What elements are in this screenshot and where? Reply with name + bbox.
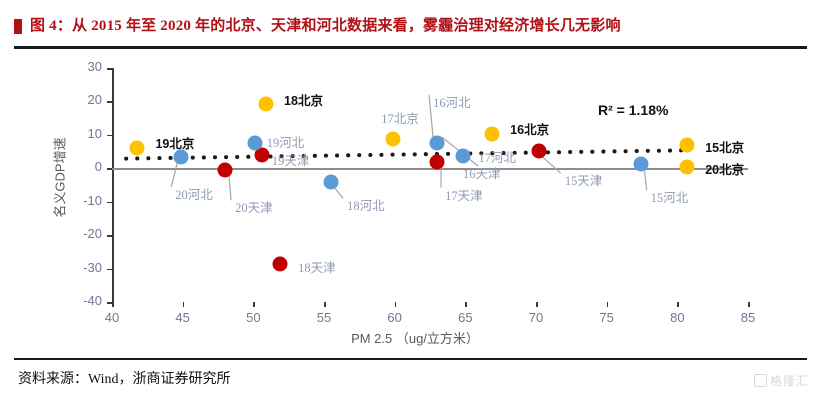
leader-15天津	[543, 157, 561, 173]
x-tick-mark	[536, 302, 538, 307]
header-divider	[14, 46, 807, 49]
data-point-16河北	[430, 136, 445, 151]
x-tick-label: 45	[163, 310, 203, 325]
label-16tianjin: 16天津	[463, 163, 501, 182]
x-tick-label: 70	[516, 310, 556, 325]
x-tick-mark	[465, 302, 467, 307]
data-point-17北京	[386, 131, 401, 146]
x-tick-mark	[607, 302, 609, 307]
data-point-18天津	[273, 256, 288, 271]
x-tick-label: 75	[587, 310, 627, 325]
point-label-19北京: 19北京	[155, 133, 194, 152]
leader-20天津	[229, 176, 231, 200]
point-label-18北京: 18北京	[284, 90, 323, 109]
x-tick-label: 50	[233, 310, 273, 325]
x-tick-mark	[112, 302, 114, 307]
point-label-15天津: 15天津	[565, 170, 603, 189]
x-tick-label: 85	[728, 310, 768, 325]
leader-18河北	[335, 188, 343, 198]
data-point-15天津	[531, 144, 546, 159]
watermark-text: 格隆汇	[770, 372, 809, 389]
point-label-18天津: 18天津	[298, 257, 336, 276]
data-point-20河北	[174, 149, 189, 164]
y-axis-line	[112, 68, 114, 302]
data-point-20天津	[218, 163, 233, 178]
x-axis-title: PM 2.5 （ug/立方米）	[250, 328, 580, 347]
title-accent-bar	[14, 19, 22, 34]
data-point-15北京	[680, 138, 695, 153]
data-point-17河北	[455, 148, 470, 163]
y-tick-mark	[107, 68, 112, 70]
zero-baseline	[112, 168, 748, 170]
x-tick-mark	[183, 302, 185, 307]
source-note: 资料来源：Wind，浙商证券研究所	[18, 368, 231, 388]
y-tick-mark	[107, 101, 112, 103]
x-tick-label: 80	[657, 310, 697, 325]
y-tick-label: 20	[62, 92, 102, 107]
point-label-15北京: 15北京	[705, 137, 744, 156]
x-tick-label: 40	[92, 310, 132, 325]
point-label-17北京: 17北京	[381, 108, 419, 127]
data-point-18河北	[324, 175, 339, 190]
point-label-19河北: 19河北	[267, 132, 305, 151]
y-tick-mark	[107, 202, 112, 204]
y-tick-label: -20	[62, 226, 102, 241]
figure-container: 图 4：从 2015 年至 2020 年的北京、天津和河北数据来看，雾霾治理对经…	[0, 0, 821, 401]
chart-plot-area: 名义GDP增速 PM 2.5 （ug/立方米） R² = 1.18% 30201…	[0, 50, 821, 355]
point-label-20北京: 20北京	[705, 159, 744, 178]
y-tick-mark	[107, 235, 112, 237]
point-label-16河北: 16河北	[433, 92, 471, 111]
x-tick-label: 60	[375, 310, 415, 325]
watermark: 格隆汇	[754, 372, 809, 389]
y-tick-label: -10	[62, 193, 102, 208]
y-tick-mark	[107, 269, 112, 271]
point-label-20河北: 20河北	[175, 184, 213, 203]
point-label-17天津: 17天津	[445, 185, 483, 204]
data-point-18北京	[259, 97, 274, 112]
data-point-15河北	[633, 157, 648, 172]
figure-title-bar: 图 4：从 2015 年至 2020 年的北京、天津和河北数据来看，雾霾治理对经…	[14, 14, 807, 48]
point-label-16北京: 16北京	[510, 119, 549, 138]
x-tick-mark	[677, 302, 679, 307]
x-tick-mark	[324, 302, 326, 307]
y-tick-mark	[107, 135, 112, 137]
data-point-19北京	[130, 141, 145, 156]
x-tick-mark	[253, 302, 255, 307]
data-point-19河北	[247, 135, 262, 150]
y-tick-label: -40	[62, 293, 102, 308]
data-point-16北京	[485, 127, 500, 142]
point-label-18河北: 18河北	[347, 195, 385, 214]
data-point-17天津	[430, 154, 445, 169]
leader-15河北	[645, 170, 647, 190]
x-tick-mark	[748, 302, 750, 307]
data-point-20北京	[680, 160, 695, 175]
y-tick-label: 0	[62, 159, 102, 174]
y-tick-mark	[107, 168, 112, 170]
point-label-15河北: 15河北	[651, 187, 689, 206]
footer-divider	[14, 358, 807, 360]
y-tick-label: 30	[62, 59, 102, 74]
y-tick-label: 10	[62, 126, 102, 141]
r-squared-annotation: R² = 1.18%	[598, 102, 668, 118]
watermark-logo-icon	[754, 374, 767, 387]
x-tick-label: 55	[304, 310, 344, 325]
y-tick-label: -30	[62, 260, 102, 275]
page-title: 图 4：从 2015 年至 2020 年的北京、天津和河北数据来看，雾霾治理对经…	[30, 14, 621, 35]
point-label-20天津: 20天津	[235, 197, 273, 216]
x-tick-label: 65	[445, 310, 485, 325]
point-label-19天津: 19天津	[272, 150, 310, 169]
x-tick-mark	[395, 302, 397, 307]
